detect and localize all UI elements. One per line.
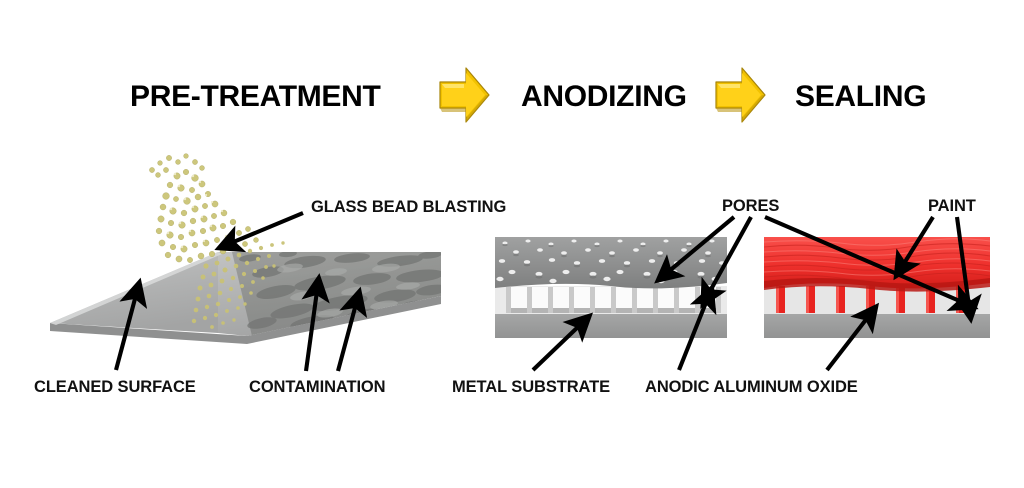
sealing-panel xyxy=(764,237,990,338)
stage-title-sealing: SEALING xyxy=(795,82,926,112)
leader-paint-layer xyxy=(903,217,933,265)
anodizing-oxide-layer xyxy=(495,286,727,314)
sealing-oxide-layer xyxy=(764,286,990,314)
leader-contamination-2 xyxy=(338,304,356,371)
pre-treatment-panel xyxy=(50,154,449,344)
anodizing-panel xyxy=(495,237,727,338)
plate-thickness-edge xyxy=(50,296,441,344)
sealing-substrate xyxy=(764,313,990,338)
right-arrow-icon xyxy=(712,64,768,126)
leader-contamination-1 xyxy=(306,291,317,371)
leader-pores-wall xyxy=(709,217,751,293)
bead-stream xyxy=(149,154,284,329)
leader-lines xyxy=(116,213,969,371)
label-cleaned-surface: CLEANED SURFACE xyxy=(34,378,196,396)
right-arrow-icon xyxy=(436,64,492,126)
label-pores: PORES xyxy=(722,197,779,215)
leader-pores-surface xyxy=(668,217,734,272)
label-glass-bead-blasting: GLASS BEAD BLASTING xyxy=(311,198,506,216)
leader-anodic-oxide-1 xyxy=(679,300,707,370)
sealing-filled-pore xyxy=(776,286,965,313)
leader-paint-pore xyxy=(957,217,969,306)
label-anodic-aluminum-oxide: ANODIC ALUMINUM OXIDE xyxy=(645,378,858,396)
anodizing-substrate xyxy=(495,313,727,338)
stage-title-pre-treatment: PRE-TREATMENT xyxy=(130,82,381,112)
process-diagram: PRE-TREATMENT ANODIZING SEALING xyxy=(0,0,1024,488)
leader-anodic-oxide-2 xyxy=(827,317,868,370)
plate-clean-area xyxy=(50,252,253,333)
diagram-artwork xyxy=(0,0,1024,488)
anodizing-surface-pore xyxy=(496,240,725,284)
sealing-paint-layer xyxy=(764,237,990,288)
label-paint: PAINT xyxy=(928,197,976,215)
anodizing-surface xyxy=(495,237,727,288)
leader-metal-substrate xyxy=(533,325,580,370)
plate-top-face xyxy=(218,252,441,336)
anodizing-pore-wall xyxy=(506,287,721,313)
stage-title-anodizing: ANODIZING xyxy=(521,82,687,112)
plate-contaminated-area xyxy=(232,250,449,336)
leader-glass-bead-blasting xyxy=(231,213,303,243)
label-metal-substrate: METAL SUBSTRATE xyxy=(452,378,610,396)
label-contamination: CONTAMINATION xyxy=(249,378,386,396)
leader-cleaned-surface xyxy=(116,295,136,370)
leader-pores-sealed xyxy=(765,217,962,302)
